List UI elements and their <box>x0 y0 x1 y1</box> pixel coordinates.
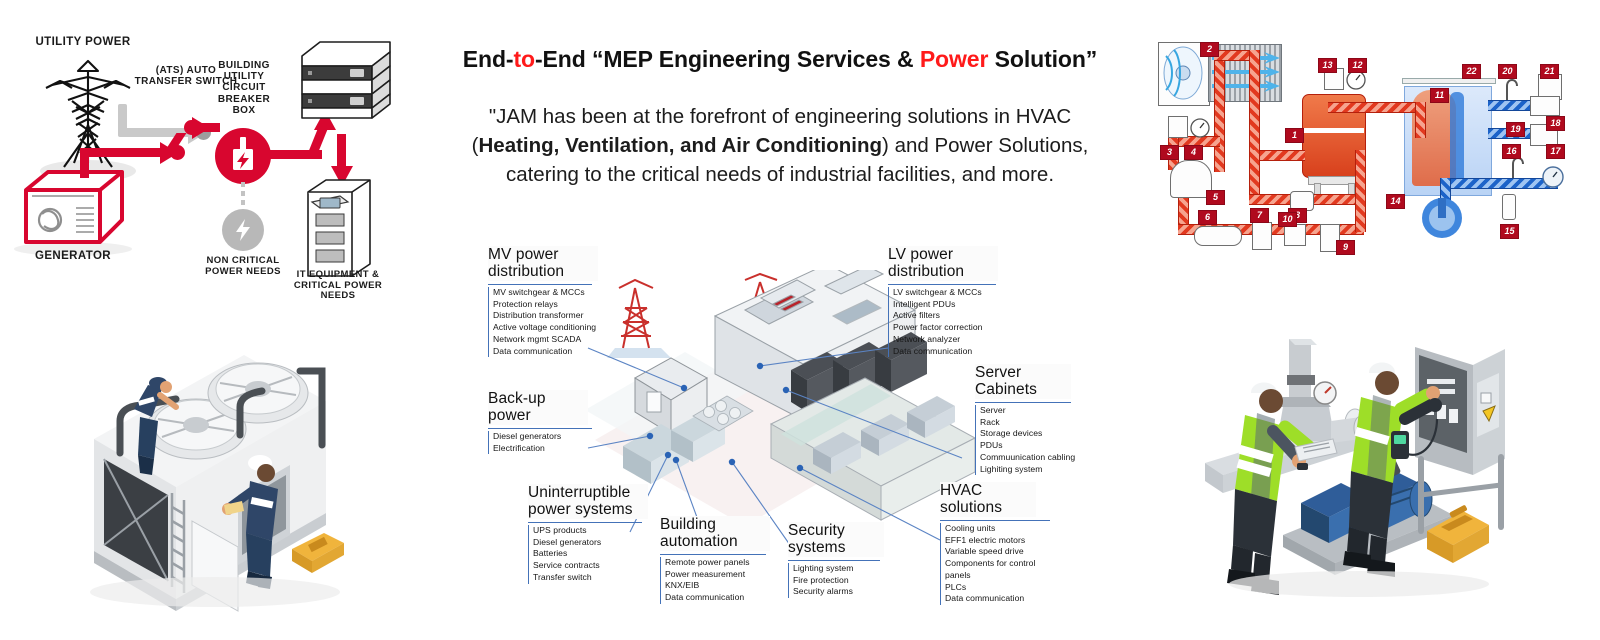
hot-pipe-riser-2 <box>1249 50 1260 158</box>
technicians-illustration <box>1205 335 1525 610</box>
callout-9: 9 <box>1336 240 1355 255</box>
group-title-server-cabinets: Server Cabinets <box>975 364 1071 399</box>
callout-14: 14 <box>1386 194 1405 209</box>
list-item: Power factor correction <box>893 322 1003 334</box>
hot-pipe-evap-riser <box>1415 102 1426 138</box>
callout-22: 22 <box>1462 64 1481 79</box>
group-list-lv-power-distribution: LV switchgear & MCCs Intelligent PDUs Ac… <box>888 287 1003 357</box>
group-title-building-automation: Building automation <box>660 516 770 551</box>
callout-13: 13 <box>1318 58 1337 73</box>
group-title-back-up-power: Back-up power <box>488 390 588 425</box>
hot-pipe-to-evaporator <box>1355 150 1366 232</box>
list-item: EFF1 electric motors <box>945 535 1057 547</box>
hvac-refrigeration-schematic: 2 13 12 1 3 4 5 6 7 8 9 10 11 14 15 16 1… <box>1150 28 1580 273</box>
group-title-security-systems: Security systems <box>788 522 884 557</box>
list-item: Lighting system <box>793 563 887 575</box>
list-item: Power measurement <box>665 569 773 581</box>
group-list-mv-power-distribution: MV switchgear & MCCs Protection relays D… <box>488 287 599 357</box>
callout-17: 17 <box>1546 144 1565 159</box>
list-item: Protection relays <box>493 299 599 311</box>
group-title-mv-power-distribution: MV power distribution <box>488 246 598 281</box>
group-list-hvac-solutions: Cooling units EFF1 electric motors Varia… <box>940 523 1057 605</box>
list-item: Network mgmt SCADA <box>493 334 599 346</box>
callout-19: 19 <box>1506 122 1525 137</box>
list-item: KNX/EIB <box>665 580 773 592</box>
non-critical-load-icon <box>222 209 264 251</box>
list-item: Transfer switch <box>533 572 649 584</box>
group-rule-mv <box>488 284 592 285</box>
label-generator: GENERATOR <box>18 250 128 263</box>
rack-feed-drop <box>337 134 346 168</box>
list-item: Batteries <box>533 548 649 560</box>
intro-bold-hvac: Heating, Ventilation, and Air Conditioni… <box>479 134 883 157</box>
chilled-water-pump-icon <box>1420 196 1468 240</box>
list-item: Components for control panels <box>945 558 1057 581</box>
sight-glass <box>1252 222 1272 250</box>
list-item: Electrification <box>493 443 599 455</box>
list-item: LV switchgear & MCCs <box>893 287 1003 299</box>
hook-fitting-20-icon <box>1502 76 1520 102</box>
label-it-equipment: IT EQUIPMENT & CRITICAL POWER NEEDS <box>278 270 398 302</box>
headline-part-to: to <box>513 46 535 72</box>
vessel-band <box>1302 128 1364 133</box>
callout-16: 16 <box>1502 144 1521 159</box>
cold-pipe-return <box>1440 178 1558 189</box>
group-list-back-up-power: Diesel generators Electrification <box>488 431 599 454</box>
group-list-uninterruptible-power-systems: UPS products Diesel generators Batteries… <box>528 525 649 584</box>
center-text-column: End-to-End “MEP Engineering Services & P… <box>455 44 1105 264</box>
list-item: Distribution transformer <box>493 310 599 322</box>
callout-10: 10 <box>1278 212 1297 227</box>
sensor-15 <box>1502 194 1516 220</box>
callout-1: 1 <box>1285 128 1304 143</box>
it-rack-icon <box>298 178 378 283</box>
callout-20: 20 <box>1498 64 1517 79</box>
list-item: Security alarms <box>793 586 887 598</box>
list-item: MV switchgear & MCCs <box>493 287 599 299</box>
callout-11: 11 <box>1430 88 1449 103</box>
page-title: End-to-End “MEP Engineering Services & P… <box>455 44 1105 75</box>
list-item: Data communication <box>493 346 599 358</box>
headline-part-5: Solution” <box>988 46 1097 72</box>
group-rule-ups <box>528 522 642 523</box>
label-non-critical-power: NON CRITICAL POWER NEEDS <box>204 256 282 277</box>
callout-5: 5 <box>1206 190 1225 205</box>
pressure-gauge-12-icon <box>1346 70 1366 90</box>
evaporator-top-rail <box>1402 78 1496 84</box>
label-breaker-box: BUILDING UTILITY CIRCUIT BREAKER BOX <box>206 60 282 116</box>
expansion-valve <box>1284 224 1306 246</box>
group-rule-lv <box>888 284 996 285</box>
list-item: Data communication <box>945 593 1057 605</box>
generator-feed-run <box>80 148 168 157</box>
list-item: Active voltage conditioning <box>493 322 599 334</box>
regulating-valve-21 <box>1530 96 1560 116</box>
list-item: Data communication <box>893 346 1003 358</box>
list-item: Rack <box>980 417 1080 429</box>
list-item: Cooling units <box>945 523 1057 535</box>
list-item: Data communication <box>665 592 773 604</box>
group-list-security-systems: Lighting system Fire protection Security… <box>788 563 887 598</box>
callout-4: 4 <box>1184 145 1203 160</box>
list-item: Server <box>980 405 1080 417</box>
slide-canvas: UTILITY POWER <box>0 0 1600 640</box>
group-title-uninterruptible-power-systems: Uninterruptible power systems <box>528 484 648 519</box>
callout-21: 21 <box>1540 64 1559 79</box>
list-item: Commuunication cabling <box>980 452 1080 464</box>
pressure-switch-3 <box>1168 116 1188 138</box>
list-item: Active filters <box>893 310 1003 322</box>
group-title-lv-power-distribution: LV power distribution <box>888 246 998 281</box>
list-item: Remote power panels <box>665 557 773 569</box>
ground-shadow-2 <box>1229 571 1489 597</box>
group-rule-server <box>975 402 1071 403</box>
headline-part-power: Power <box>920 46 989 72</box>
callout-12: 12 <box>1348 58 1367 73</box>
list-item: PDUs <box>980 440 1080 452</box>
list-item: Network analyzer <box>893 334 1003 346</box>
label-utility-power: UTILITY POWER <box>18 36 148 49</box>
headline-part-3: -End “MEP Engineering Services & <box>535 46 920 72</box>
group-list-server-cabinets: Server Rack Storage devices PDUs Commuun… <box>975 405 1080 475</box>
pressure-gauge-4-icon <box>1190 118 1210 138</box>
list-item: Variable speed drive <box>945 546 1057 558</box>
filter-dryer <box>1194 226 1242 246</box>
hot-pipe-riser-1 <box>1214 54 1225 172</box>
breaker-feed-arrowhead <box>192 115 214 141</box>
list-item: Storage devices <box>980 428 1080 440</box>
callout-3: 3 <box>1160 145 1179 160</box>
list-item: Service contracts <box>533 560 649 572</box>
group-rule-hvac <box>940 520 1050 521</box>
callout-7: 7 <box>1250 208 1269 223</box>
headline-part-1: End- <box>463 46 514 72</box>
hot-pipe-discharge <box>1328 102 1424 113</box>
ground-shadow <box>90 577 340 607</box>
cooling-tower-graphic <box>80 325 370 615</box>
generator-icon <box>18 168 126 245</box>
list-item: UPS products <box>533 525 649 537</box>
evaporator-cold-core <box>1450 92 1464 186</box>
cooling-tower-illustration <box>80 325 370 615</box>
server-stack-icon <box>296 38 396 133</box>
list-item: Diesel generators <box>533 537 649 549</box>
callout-18: 18 <box>1546 116 1565 131</box>
list-item: Fire protection <box>793 575 887 587</box>
callout-2: 2 <box>1200 42 1219 57</box>
callout-15: 15 <box>1500 224 1519 239</box>
list-item: Diesel generators <box>493 431 599 443</box>
list-item: Intelligent PDUs <box>893 299 1003 311</box>
group-rule-security <box>788 560 880 561</box>
intro-paragraph: "JAM has been at the forefront of engine… <box>455 102 1105 189</box>
mep-infographic: MV power distribution MV switchgear & MC… <box>470 240 1100 635</box>
circuit-breaker-icon <box>215 128 271 184</box>
technicians-graphic <box>1205 335 1525 610</box>
group-rule-ba <box>660 554 766 555</box>
noncritical-dashed-line <box>241 182 245 208</box>
gauge-17-icon <box>1542 166 1564 188</box>
list-item: PLCs <box>945 582 1057 594</box>
list-item: Lighiting system <box>980 464 1080 476</box>
power-flow-diagram: UTILITY POWER <box>0 0 430 320</box>
callout-6: 6 <box>1198 210 1217 225</box>
group-title-hvac-solutions: HVAC solutions <box>940 482 1036 517</box>
group-rule-backup <box>488 428 592 429</box>
group-list-building-automation: Remote power panels Power measurement KN… <box>660 557 773 604</box>
